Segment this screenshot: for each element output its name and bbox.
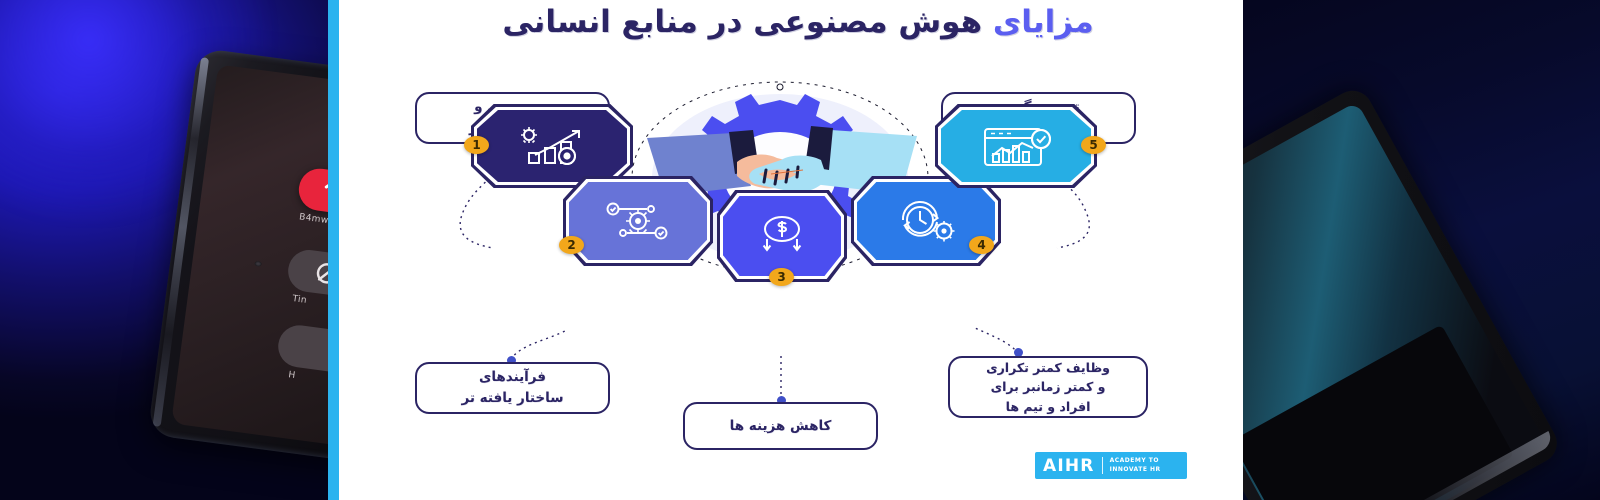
logo-tagline-line2: INNOVATE HR bbox=[1110, 466, 1161, 473]
badge-1-number: 1 bbox=[464, 136, 489, 154]
divider-gap bbox=[339, 0, 353, 500]
bar-chart-growth-gear-icon bbox=[515, 125, 589, 167]
badge-4[interactable]: 4 bbox=[857, 182, 995, 260]
tablet-device bbox=[1243, 84, 1564, 500]
badge-3[interactable]: 3 bbox=[723, 196, 841, 276]
blank-caption: H bbox=[288, 370, 296, 381]
blank-icon bbox=[276, 323, 330, 375]
callout-tasks-line1: وظایف کمتر تکراری bbox=[986, 358, 1110, 377]
clock-gear-automation-icon bbox=[891, 198, 961, 244]
badge-2-number: 2 bbox=[559, 236, 584, 254]
signal-caption: Tin bbox=[292, 294, 308, 306]
logo-tagline-line1: ACADEMY TO bbox=[1110, 457, 1159, 464]
signal-slash-icon bbox=[286, 247, 330, 299]
callout-costs: کاهش هزینه ها bbox=[683, 402, 878, 450]
infographic-canvas: مزایای هوش مصنوعی در منابع انسانی بهره و… bbox=[353, 0, 1243, 500]
badge-2[interactable]: 2 bbox=[569, 182, 707, 260]
aihr-logo[interactable]: AIHR ACADEMY TO INNOVATE HR bbox=[1035, 452, 1187, 479]
logo-divider bbox=[1102, 457, 1103, 474]
phone-sensor-dot bbox=[254, 261, 262, 267]
callout-processes-line2: ساختار یافته تر bbox=[462, 388, 564, 409]
infographic-screenshot: B4mw Tin H مزایای هوش مصنوعی در منابع ان… bbox=[0, 0, 1600, 500]
callout-processes: فرآیندهای ساختار یافته تر bbox=[415, 362, 610, 414]
callout-tasks-line3: افراد و تیم ها bbox=[986, 397, 1110, 416]
badge-1[interactable]: 1 bbox=[477, 110, 627, 182]
wifi-icon bbox=[296, 166, 330, 218]
callout-costs-line1: کاهش هزینه ها bbox=[730, 416, 832, 437]
badge-5-number: 5 bbox=[1081, 136, 1106, 154]
badge-5[interactable]: 5 bbox=[941, 110, 1091, 182]
badge-4-number: 4 bbox=[969, 236, 994, 254]
logo-tagline: ACADEMY TO INNOVATE HR bbox=[1110, 457, 1161, 473]
cyan-divider bbox=[328, 0, 339, 500]
right-decorative-panel bbox=[1243, 0, 1600, 500]
callout-tasks: وظایف کمتر تکراری و کمتر زمانبر برای افر… bbox=[948, 356, 1148, 418]
workflow-gear-checklist-icon bbox=[603, 199, 673, 243]
badge-3-shape[interactable] bbox=[723, 196, 841, 276]
analytics-dashboard-icon bbox=[977, 124, 1055, 168]
badge-3-number: 3 bbox=[769, 268, 794, 286]
logo-wordmark: AIHR bbox=[1043, 456, 1095, 476]
badge-5-shape[interactable] bbox=[941, 110, 1091, 182]
callout-processes-line1: فرآیندهای bbox=[462, 367, 564, 388]
dollar-coin-savings-icon bbox=[753, 213, 811, 259]
badge-2-shape[interactable] bbox=[569, 182, 707, 260]
callout-tasks-line2: و کمتر زمانبر برای bbox=[986, 377, 1110, 396]
badge-1-shape[interactable] bbox=[477, 110, 627, 182]
left-decorative-panel: B4mw Tin H bbox=[0, 0, 330, 500]
wifi-caption: B4mw bbox=[298, 212, 329, 226]
